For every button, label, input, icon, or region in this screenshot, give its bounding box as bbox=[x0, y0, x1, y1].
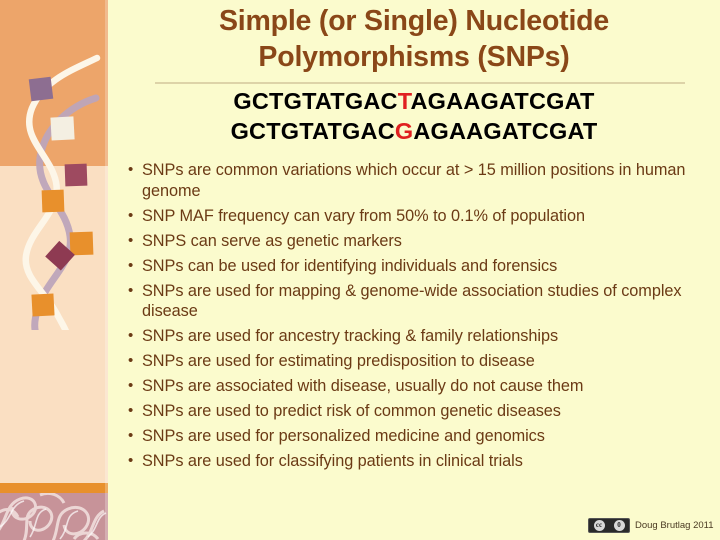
list-item: • SNP MAF frequency can vary from 50% to… bbox=[122, 206, 702, 227]
bullet-marker-icon: • bbox=[122, 426, 142, 447]
square-orange-mid bbox=[70, 232, 94, 256]
bullet-marker-icon: • bbox=[122, 401, 142, 422]
title-line-2: Polymorphisms (SNPs) bbox=[120, 40, 708, 76]
credit-text: Doug Brutlag 2011 bbox=[635, 520, 714, 531]
square-orange-upper bbox=[42, 190, 65, 213]
bullet-marker-icon: • bbox=[122, 206, 142, 227]
list-item: • SNPs can be used for identifying indiv… bbox=[122, 256, 702, 277]
slide-canvas: Simple (or Single) Nucleotide Polymorphi… bbox=[0, 0, 720, 540]
bullet-marker-icon: • bbox=[122, 160, 142, 181]
bullet-marker-icon: • bbox=[122, 451, 142, 472]
bullet-marker-icon: • bbox=[122, 351, 142, 372]
list-item-text: SNPs are used to predict risk of common … bbox=[142, 401, 702, 422]
bullet-marker-icon: • bbox=[122, 256, 142, 277]
sidebar-right-edge bbox=[105, 0, 108, 540]
cc-mark-icon: cc bbox=[594, 520, 605, 531]
title-divider bbox=[155, 82, 685, 84]
bullet-marker-icon: • bbox=[122, 376, 142, 397]
list-item: • SNPs are used for estimating predispos… bbox=[122, 351, 702, 372]
list-item-text: SNP MAF frequency can vary from 50% to 0… bbox=[142, 206, 702, 227]
title-line-1: Simple (or Single) Nucleotide bbox=[120, 4, 708, 40]
decorative-sidebar bbox=[0, 0, 108, 540]
sequence-suffix: AGAAGATCGAT bbox=[411, 88, 595, 114]
list-item: • SNPs are used for ancestry tracking & … bbox=[122, 326, 702, 347]
list-item-text: SNPs are common variations which occur a… bbox=[142, 160, 702, 201]
list-item: • SNPs are used for mapping & genome-wid… bbox=[122, 281, 702, 322]
sidebar-orange-rule bbox=[0, 483, 108, 493]
snp-base-highlight: G bbox=[395, 118, 413, 144]
list-item-text: SNPs are used for classifying patients i… bbox=[142, 451, 702, 472]
square-cream bbox=[50, 116, 74, 140]
list-item: • SNPs are used for classifying patients… bbox=[122, 451, 702, 472]
list-item-text: SNPs are used for mapping & genome-wide … bbox=[142, 281, 702, 322]
page-title: Simple (or Single) Nucleotide Polymorphi… bbox=[120, 4, 708, 76]
sequence-prefix: GCTGTATGAC bbox=[233, 88, 397, 114]
list-item-text: SNPs are associated with disease, usuall… bbox=[142, 376, 702, 397]
cc-zero-icon: 0 bbox=[614, 520, 625, 531]
list-item-text: SNPs are used for ancestry tracking & fa… bbox=[142, 326, 702, 347]
list-item: • SNPs are associated with disease, usua… bbox=[122, 376, 702, 397]
list-item: • SNPS can serve as genetic markers bbox=[122, 231, 702, 252]
bullet-list: • SNPs are common variations which occur… bbox=[122, 160, 702, 476]
dna-sequence-block: GCTGTATGACTAGAAGATCGAT GCTGTATGACGAGAAGA… bbox=[120, 86, 708, 146]
snp-base-highlight: T bbox=[398, 88, 411, 114]
square-orange-lower bbox=[31, 293, 54, 316]
list-item: • SNPs are common variations which occur… bbox=[122, 160, 702, 201]
dna-sequence-row: GCTGTATGACGAGAAGATCGAT bbox=[120, 116, 708, 146]
sequence-suffix: AGAAGATCGAT bbox=[413, 118, 597, 144]
creative-commons-badge-icon[interactable]: cc 0 bbox=[588, 518, 630, 533]
sequence-prefix: GCTGTATGAC bbox=[231, 118, 395, 144]
square-purple bbox=[29, 77, 54, 102]
list-item-text: SNPs are used for personalized medicine … bbox=[142, 426, 702, 447]
dna-double-helix-icon bbox=[0, 0, 108, 330]
bullet-marker-icon: • bbox=[122, 281, 142, 302]
square-maroon bbox=[65, 164, 88, 187]
bullet-marker-icon: • bbox=[122, 326, 142, 347]
list-item-text: SNPS can serve as genetic markers bbox=[142, 231, 702, 252]
credit-line: cc 0 Doug Brutlag 2011 bbox=[588, 518, 714, 533]
list-item-text: SNPs can be used for identifying individ… bbox=[142, 256, 702, 277]
sidebar-floral-pattern bbox=[0, 493, 108, 540]
floral-swirl-icon bbox=[0, 493, 108, 540]
dna-sequence-row: GCTGTATGACTAGAAGATCGAT bbox=[120, 86, 708, 116]
list-item: • SNPs are used to predict risk of commo… bbox=[122, 401, 702, 422]
list-item: • SNPs are used for personalized medicin… bbox=[122, 426, 702, 447]
bullet-marker-icon: • bbox=[122, 231, 142, 252]
list-item-text: SNPs are used for estimating predisposit… bbox=[142, 351, 702, 372]
